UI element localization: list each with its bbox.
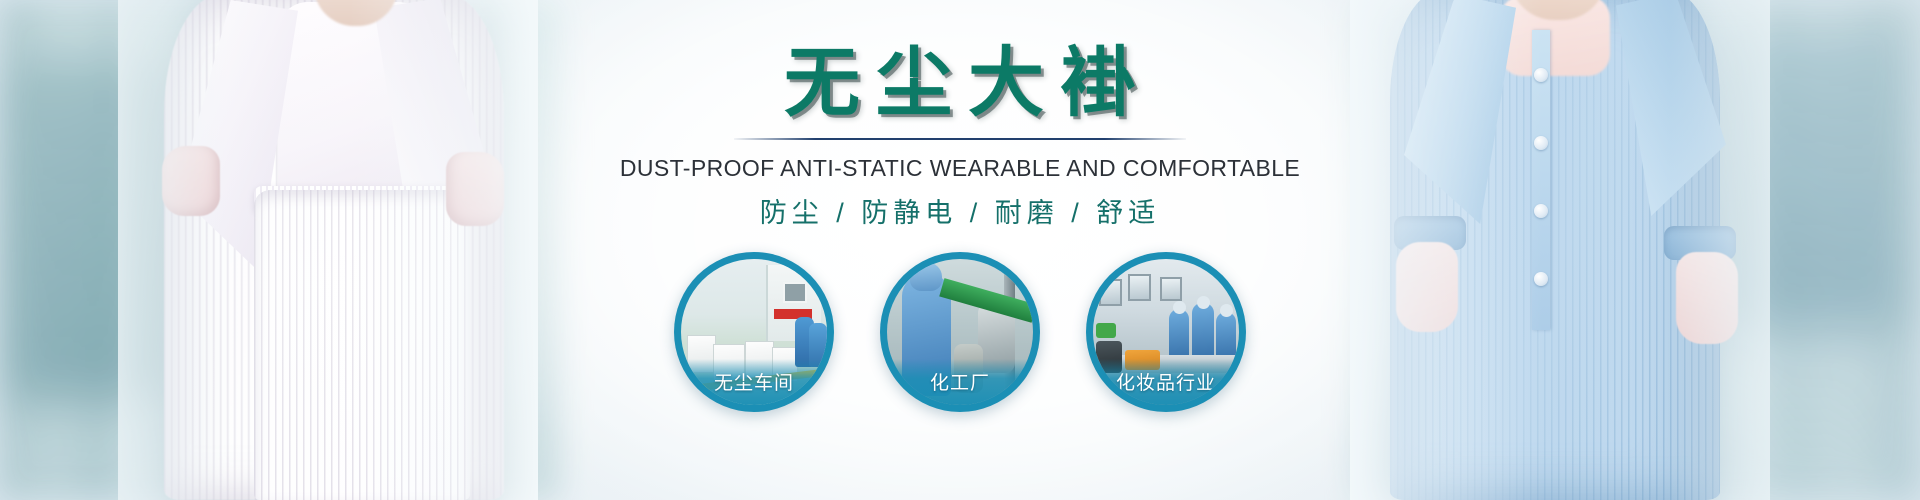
badge-label-cosmetics-industry: 化妆品行业	[1093, 372, 1239, 396]
badge-photo-chemical-plant: 化工厂	[887, 259, 1033, 405]
badge-photo-cosmetics-industry: 化妆品行业	[1093, 259, 1239, 405]
badge-label-chemical-plant: 化工厂	[887, 372, 1033, 396]
badge-cosmetics-industry[interactable]: 化妆品行业	[1086, 252, 1246, 412]
badge-cleanroom-workshop[interactable]: 无尘车间	[674, 252, 834, 412]
application-badges: 无尘车间 化工厂	[674, 252, 1246, 412]
product-banner: 无尘大褂 DUST-PROOF ANTI-STATIC WEARABLE AND…	[0, 0, 1920, 500]
model-right-edge-fade	[1350, 0, 1770, 500]
banner-subtitle-chinese: 防尘 / 防静电 / 耐磨 / 舒适	[760, 196, 1161, 230]
model-blue-coat	[1350, 0, 1770, 500]
model-white-suit	[118, 0, 538, 500]
badge-label-cleanroom-workshop: 无尘车间	[681, 372, 827, 396]
model-left-edge-fade	[118, 0, 538, 500]
title-divider	[734, 138, 1186, 140]
banner-title: 无尘大褂	[768, 42, 1152, 126]
banner-subtitle-english: DUST-PROOF ANTI-STATIC WEARABLE AND COMF…	[620, 154, 1300, 182]
badge-photo-cleanroom-workshop: 无尘车间	[681, 259, 827, 405]
badge-chemical-plant[interactable]: 化工厂	[880, 252, 1040, 412]
